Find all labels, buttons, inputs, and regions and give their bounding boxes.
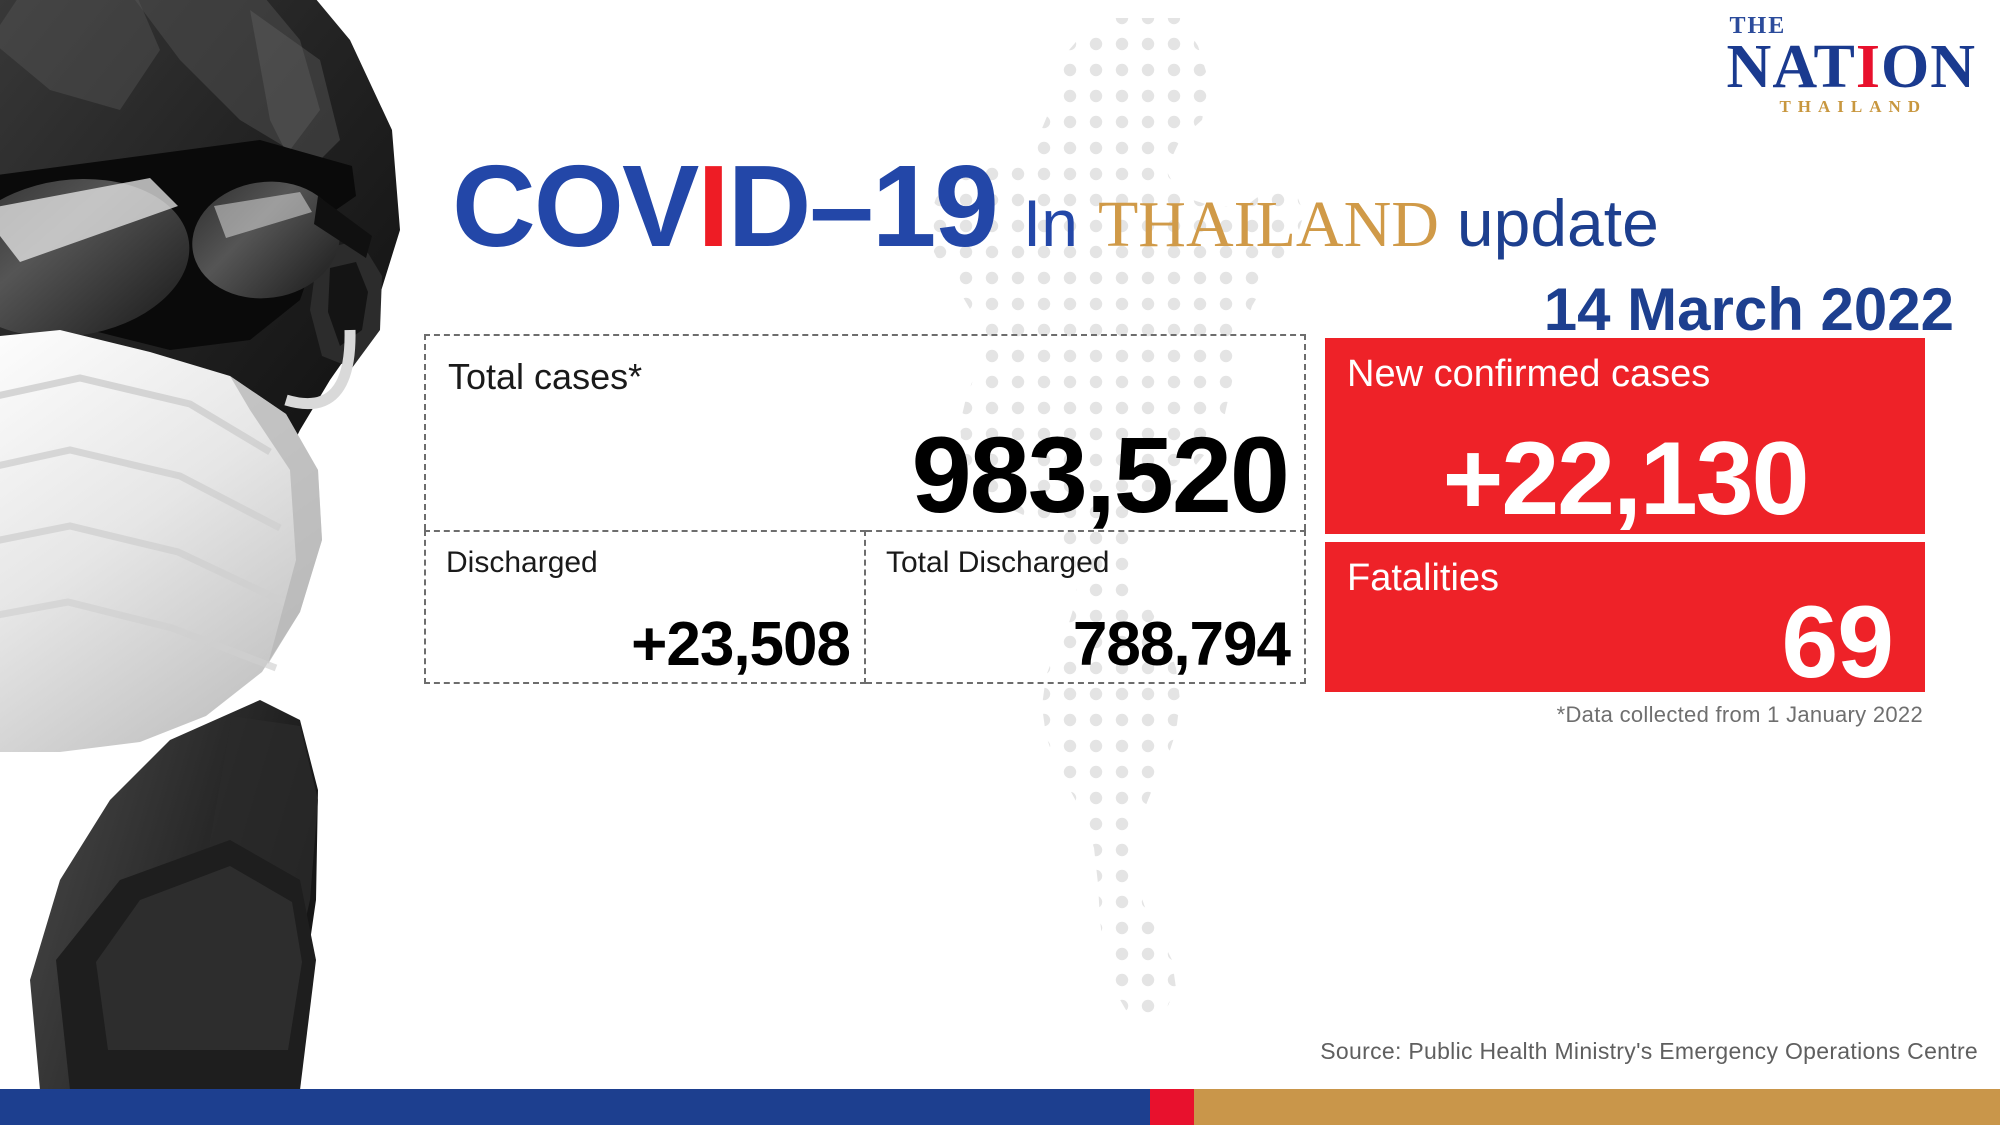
- discharged-row: Discharged +23,508 Total Discharged 788,…: [424, 530, 1306, 684]
- bottom-color-bar: [0, 1089, 2000, 1125]
- discharged-value: +23,508: [631, 614, 850, 676]
- masked-person-photo: [0, 0, 470, 1090]
- total-discharged-label: Total Discharged: [886, 546, 1109, 580]
- discharged-label: Discharged: [446, 546, 598, 580]
- headline-update-word: update: [1457, 190, 1659, 256]
- data-collected-note: *Data collected from 1 January 2022: [1557, 702, 1923, 728]
- fatalities-panel: Fatalities 69: [1325, 542, 1925, 692]
- covid-part1: COV: [452, 141, 697, 271]
- bottom-bar-blue-segment: [0, 1089, 1150, 1125]
- total-cases-label: Total cases*: [448, 356, 642, 398]
- headline-line: COVID–19 In THAILAND update: [452, 148, 1962, 264]
- covid-part2: D–19: [728, 141, 997, 271]
- source-note: Source: Public Health Ministry's Emergen…: [1320, 1038, 1978, 1065]
- new-confirmed-panel: New confirmed cases +22,130: [1325, 338, 1925, 534]
- bottom-bar-red-segment: [1150, 1089, 1194, 1125]
- nation-thailand-logo: THE NATION THAILAND: [1727, 14, 1976, 115]
- headline-in-word: In: [1023, 190, 1078, 256]
- headline-block: COVID–19 In THAILAND update 14 March 202…: [452, 148, 1962, 340]
- logo-nation-part2: ON: [1881, 33, 1976, 101]
- covid-wordmark: COVID–19: [452, 148, 997, 264]
- total-discharged-cell: Total Discharged 788,794: [866, 530, 1306, 684]
- fatalities-value: 69: [1782, 586, 1893, 698]
- right-stats-panels: New confirmed cases +22,130 Fatalities 6…: [1325, 338, 1925, 692]
- fatalities-label: Fatalities: [1347, 558, 1499, 600]
- left-stats-table: Total cases* 983,520 Discharged +23,508 …: [424, 334, 1306, 684]
- logo-nation-part1: NAT: [1727, 33, 1856, 101]
- new-confirmed-value: +22,130: [1339, 422, 1911, 536]
- total-discharged-value: 788,794: [1073, 614, 1290, 676]
- logo-nation-highlight: I: [1856, 33, 1881, 101]
- headline-country-word: THAILAND: [1098, 192, 1439, 258]
- new-confirmed-label: New confirmed cases: [1347, 354, 1710, 396]
- headline-date: 14 March 2022: [452, 280, 1962, 340]
- bottom-bar-gold-segment: [1194, 1089, 2000, 1125]
- discharged-cell: Discharged +23,508: [424, 530, 866, 684]
- total-cases-value: 983,520: [912, 417, 1288, 534]
- logo-nation-text: NATION: [1727, 39, 1976, 96]
- covid-red-i: I: [697, 141, 727, 271]
- total-cases-cell: Total cases* 983,520: [424, 334, 1306, 530]
